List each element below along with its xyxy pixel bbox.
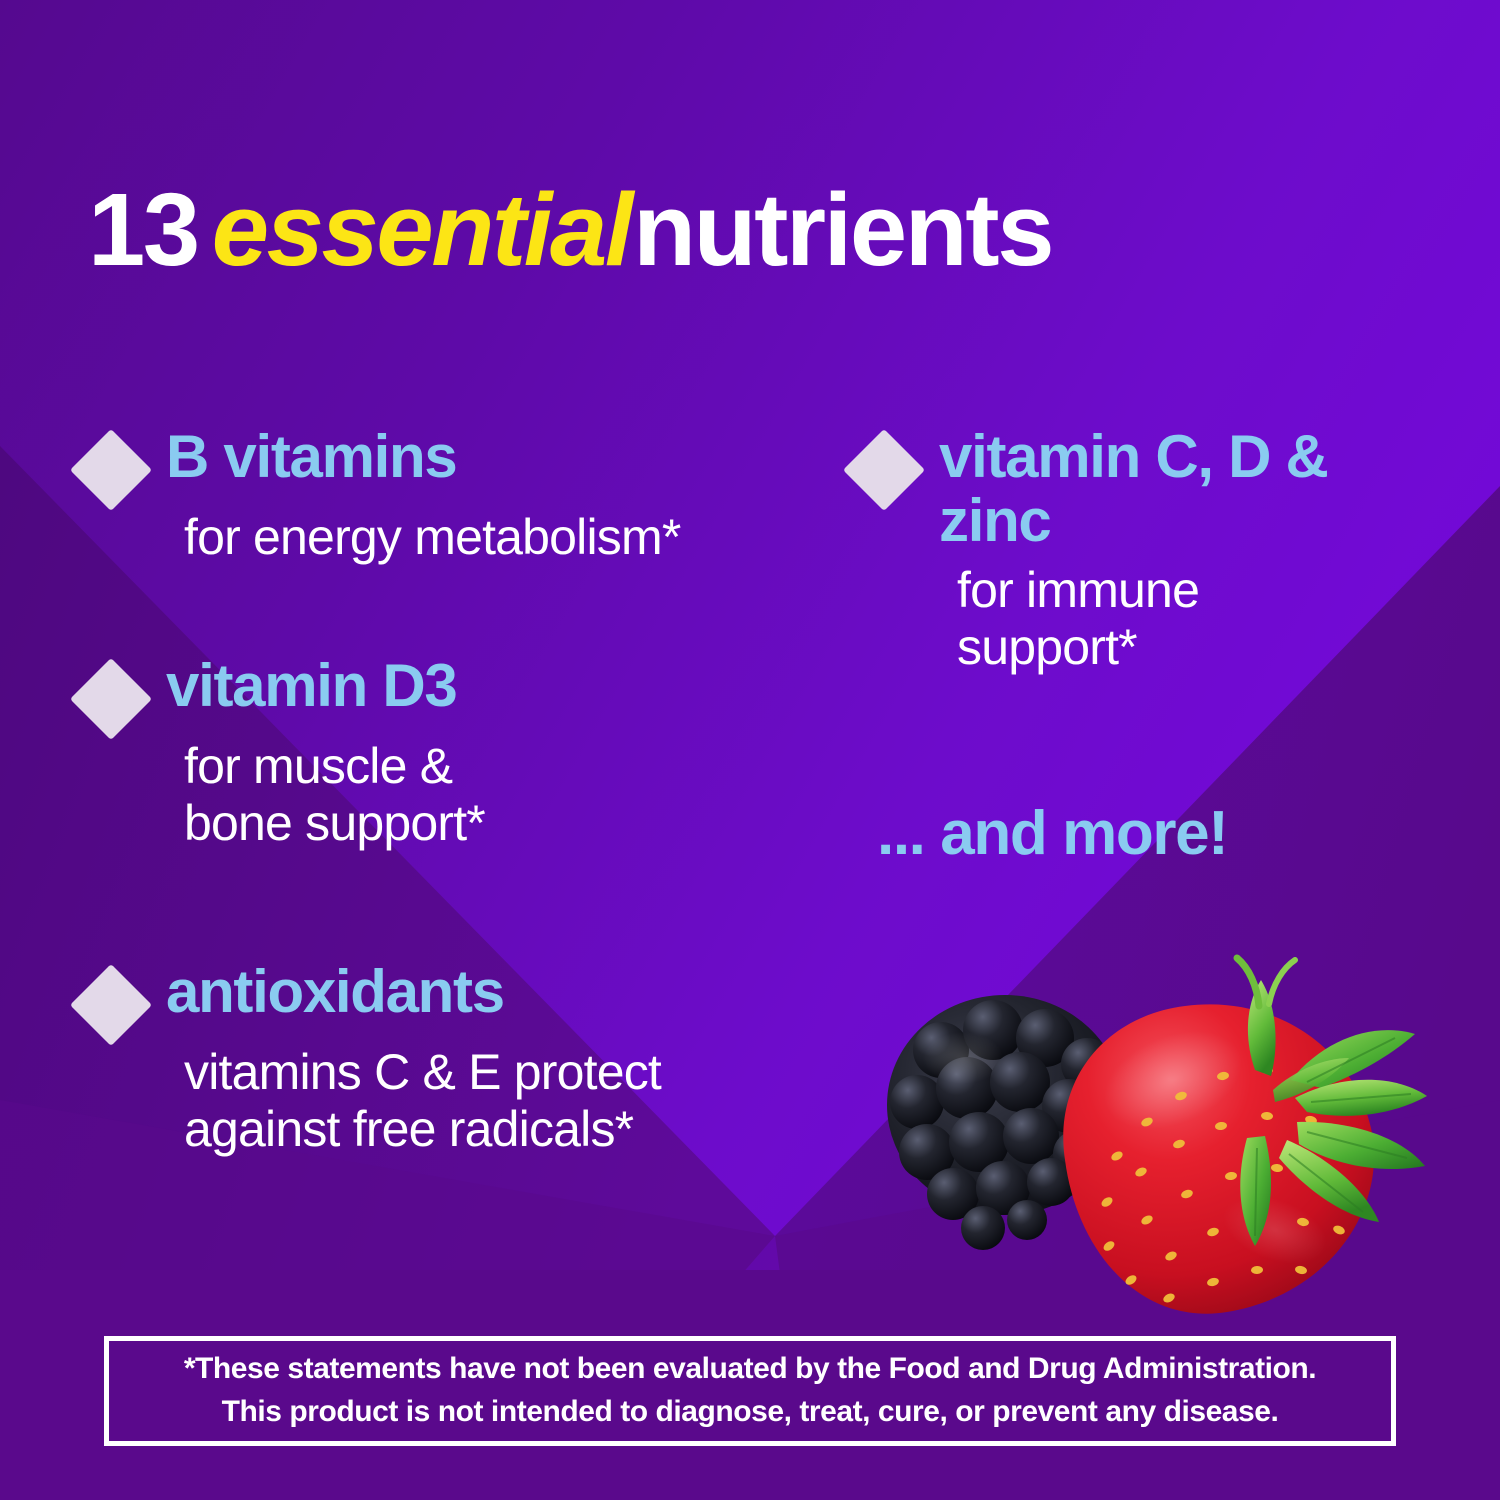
benefit-item-vitamin-d3: vitamin D3 for muscle & bone support* <box>82 654 872 852</box>
benefit-subtitle-line: support* <box>957 619 1435 676</box>
diamond-bullet-icon <box>843 429 925 511</box>
disclaimer-box: *These statements have not been evaluate… <box>104 1336 1396 1446</box>
headline-tail: nutrients <box>633 172 1052 287</box>
benefit-subtitle: for energy metabolism* <box>184 509 872 566</box>
benefit-subtitle-line: for muscle & <box>184 738 872 795</box>
benefit-title: B vitamins <box>166 425 456 489</box>
diamond-bullet-icon <box>70 658 152 740</box>
benefits-column-left: B vitamins for energy metabolism* vitami… <box>82 425 872 1158</box>
and-more-text: ... and more! <box>877 798 1435 869</box>
benefit-item-b-vitamins: B vitamins for energy metabolism* <box>82 425 872 566</box>
benefit-title: antioxidants <box>166 960 504 1024</box>
benefit-title: vitamin C, D & zinc <box>939 425 1435 552</box>
benefit-subtitle-line: vitamins C & E protect <box>184 1044 872 1101</box>
strawberry-leaves <box>1237 958 1427 1246</box>
disclaimer-line-2: This product is not intended to diagnose… <box>222 1391 1279 1434</box>
page-title: 13essentialnutrients <box>88 176 1448 283</box>
benefit-title: vitamin D3 <box>166 654 456 718</box>
benefit-subtitle-line: against free radicals* <box>184 1101 872 1158</box>
fruit-cluster-image <box>855 930 1435 1320</box>
benefit-subtitle: for immune support* <box>957 562 1435 676</box>
headline-number: 13 <box>88 172 198 287</box>
benefit-subtitle-line: for energy metabolism* <box>184 509 872 566</box>
benefit-title-line: vitamin C, <box>939 423 1213 490</box>
benefit-subtitle-line: bone support* <box>184 795 872 852</box>
product-infographic: 13essentialnutrients B vitamins for ener… <box>0 0 1500 1500</box>
benefit-item-vitamin-c-d-zinc: vitamin C, D & zinc for immune support* <box>855 425 1435 676</box>
diamond-bullet-icon <box>70 964 152 1046</box>
benefit-subtitle-line: for immune <box>957 562 1435 619</box>
strawberry <box>1063 1004 1374 1313</box>
benefit-item-antioxidants: antioxidants vitamins C & E protect agai… <box>82 960 872 1158</box>
disclaimer-line-1: *These statements have not been evaluate… <box>184 1348 1316 1391</box>
diamond-bullet-icon <box>70 429 152 511</box>
benefit-subtitle: vitamins C & E protect against free radi… <box>184 1044 872 1158</box>
blackberry <box>887 995 1123 1250</box>
benefit-subtitle: for muscle & bone support* <box>184 738 872 852</box>
headline-emphasis: essential <box>198 172 633 287</box>
benefits-column-right: vitamin C, D & zinc for immune support* … <box>855 425 1435 869</box>
